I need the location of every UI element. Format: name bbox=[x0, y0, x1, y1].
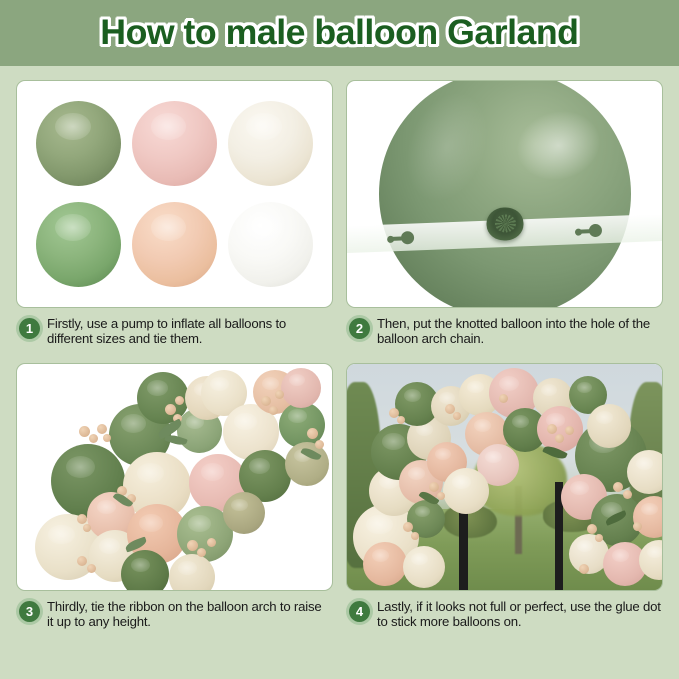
wooden-bead bbox=[275, 390, 284, 399]
wooden-bead bbox=[623, 490, 632, 499]
finished-outdoor-balloon-arch bbox=[347, 364, 662, 590]
garland-balloon bbox=[223, 492, 265, 534]
wooden-bead bbox=[587, 524, 597, 534]
step-2-cell: 2 Then, put the knotted balloon into the… bbox=[346, 80, 663, 363]
wooden-bead bbox=[547, 424, 557, 434]
wooden-bead bbox=[83, 524, 91, 532]
wooden-bead bbox=[97, 424, 107, 434]
peach-blush-balloon bbox=[132, 202, 217, 287]
step-1-text: Firstly, use a pump to inflate all ballo… bbox=[47, 317, 331, 347]
wooden-bead bbox=[261, 396, 271, 406]
balloon-secondary-highlight bbox=[392, 80, 502, 213]
arch-chain-hole bbox=[575, 223, 602, 237]
large-sage-balloon bbox=[379, 80, 631, 308]
wooden-bead bbox=[307, 428, 318, 439]
step-2-image-panel bbox=[346, 80, 663, 308]
balloon-garland-closeup bbox=[17, 364, 332, 590]
step-4-caption: 4 Lastly, if it looks not full or perfec… bbox=[346, 591, 663, 646]
balloon-knot-in-hole bbox=[485, 207, 523, 241]
arch-balloon bbox=[363, 542, 407, 586]
wooden-bead bbox=[269, 406, 278, 415]
wooden-bead bbox=[165, 404, 176, 415]
wooden-bead bbox=[207, 538, 216, 547]
wooden-bead bbox=[595, 534, 603, 542]
wooden-bead bbox=[633, 522, 642, 531]
step-3-badge: 3 bbox=[19, 601, 40, 622]
olive-green-balloon bbox=[36, 101, 121, 186]
garland-balloon bbox=[121, 550, 169, 590]
step-4-badge: 4 bbox=[349, 601, 370, 622]
step-1-cell: 1 Firstly, use a pump to inflate all bal… bbox=[16, 80, 333, 363]
hole-large-end bbox=[401, 230, 414, 243]
step-4-cell: 4 Lastly, if it looks not full or perfec… bbox=[346, 363, 663, 646]
wooden-bead bbox=[103, 434, 111, 442]
wooden-bead bbox=[77, 556, 87, 566]
white-balloon bbox=[228, 202, 313, 287]
wooden-bead bbox=[79, 426, 90, 437]
arch-balloon bbox=[587, 404, 631, 448]
wooden-bead bbox=[453, 412, 461, 420]
wooden-bead bbox=[579, 564, 589, 574]
step-2-text: Then, put the knotted balloon into the h… bbox=[377, 317, 661, 347]
arch-chain-hole bbox=[387, 230, 414, 244]
wooden-bead bbox=[499, 394, 508, 403]
dusty-pink-balloon bbox=[132, 101, 217, 186]
step-1-image-panel bbox=[16, 80, 333, 308]
steps-grid: 1 Firstly, use a pump to inflate all bal… bbox=[0, 66, 679, 646]
garland-balloon bbox=[281, 368, 321, 408]
step-4-text: Lastly, if it looks not full or perfect,… bbox=[377, 600, 661, 630]
step-4-image-panel bbox=[346, 363, 663, 591]
step-3-text: Thirdly, tie the ribbon on the balloon a… bbox=[47, 600, 331, 630]
step-3-cell: 3 Thirdly, tie the ribbon on the balloon… bbox=[16, 363, 333, 646]
step-2-caption: 2 Then, put the knotted balloon into the… bbox=[346, 308, 663, 363]
arch-balloon bbox=[443, 468, 489, 514]
step-1-caption: 1 Firstly, use a pump to inflate all bal… bbox=[16, 308, 333, 363]
arch-balloon bbox=[403, 546, 445, 588]
wooden-bead bbox=[175, 396, 184, 405]
step-2-badge: 2 bbox=[349, 318, 370, 339]
wooden-bead bbox=[403, 522, 413, 532]
wooden-bead bbox=[89, 434, 98, 443]
wooden-bead bbox=[77, 514, 87, 524]
wooden-bead bbox=[565, 426, 574, 435]
page-header: How to male balloon Garland bbox=[0, 0, 679, 66]
hole-large-end bbox=[589, 223, 602, 236]
wooden-bead bbox=[429, 482, 439, 492]
step-3-image-panel bbox=[16, 363, 333, 591]
sage-green-balloon bbox=[36, 202, 121, 287]
step-3-caption: 3 Thirdly, tie the ribbon on the balloon… bbox=[16, 591, 333, 646]
wooden-bead bbox=[411, 532, 419, 540]
wooden-bead bbox=[397, 416, 405, 424]
wooden-bead bbox=[87, 564, 96, 573]
step-1-badge: 1 bbox=[19, 318, 40, 339]
wooden-bead bbox=[613, 482, 623, 492]
page-title: How to male balloon Garland bbox=[100, 13, 578, 53]
wooden-bead bbox=[187, 540, 198, 551]
balloon-color-swatches bbox=[17, 81, 332, 307]
balloon-highlight bbox=[510, 103, 608, 189]
wooden-bead bbox=[197, 548, 206, 557]
wooden-bead bbox=[315, 440, 324, 449]
ivory-cream-balloon bbox=[228, 101, 313, 186]
wooden-bead bbox=[555, 434, 564, 443]
